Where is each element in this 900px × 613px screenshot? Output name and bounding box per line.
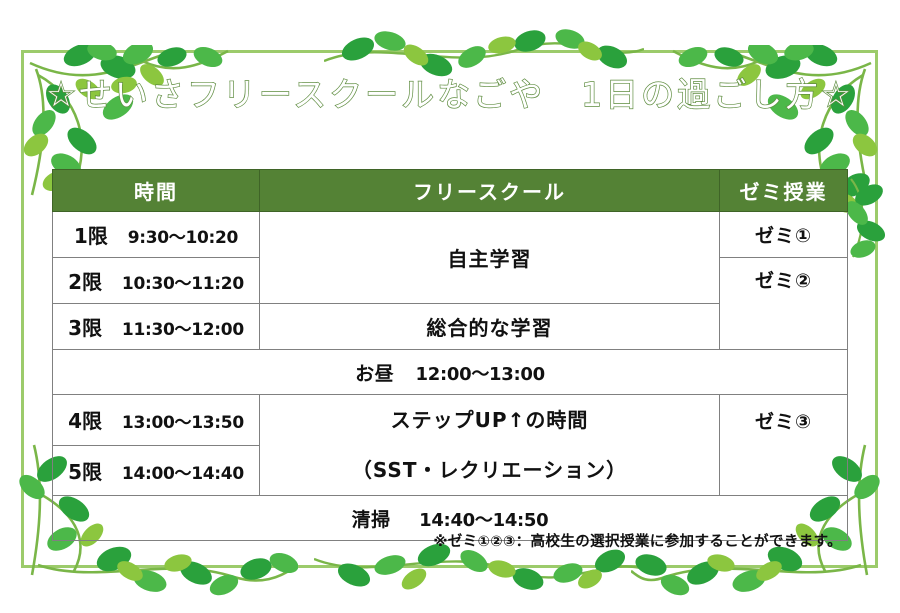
period-cell-1: 1限 9:30〜10:20 xyxy=(53,212,260,258)
activity-cell-general-study: 総合的な学習 xyxy=(260,304,720,350)
period-time-4: 13:00〜13:50 xyxy=(122,413,244,433)
column-header-freeschool: フリースクール xyxy=(260,170,720,212)
table-header-row: 時間 フリースクール ゼミ授業 xyxy=(53,170,848,212)
period-time-5: 14:00〜14:40 xyxy=(122,464,244,484)
period-label-5: 5限 xyxy=(68,460,102,484)
table-row: 4限 13:00〜13:50 ステップUP↑の時間 （SST・レクリエーション）… xyxy=(53,395,848,446)
period-label-1: 1限 xyxy=(74,224,108,248)
activity-cell-self-study: 自主学習 xyxy=(260,212,720,304)
poster-page: ☆せいさフリースクールなごや 1日の過ごし方☆ 時間 フリースクール ゼミ授業 … xyxy=(0,0,900,613)
period-time-2: 10:30〜11:20 xyxy=(122,274,244,294)
activity-line-1: ステップUP↑の時間 xyxy=(260,395,719,445)
period-cell-2: 2限 10:30〜11:20 xyxy=(53,258,260,304)
column-header-time: 時間 xyxy=(53,170,260,212)
lunch-time: 12:00〜13:00 xyxy=(416,364,545,385)
seminar-cell-2: ゼミ② xyxy=(720,258,848,350)
seminar-cell-1: ゼミ① xyxy=(720,212,848,258)
period-cell-4: 4限 13:00〜13:50 xyxy=(53,395,260,446)
period-label-2: 2限 xyxy=(68,270,102,294)
lunch-cell: お昼 12:00〜13:00 xyxy=(53,350,848,395)
period-cell-3: 3限 11:30〜12:00 xyxy=(53,304,260,350)
cleanup-time: 14:40〜14:50 xyxy=(419,510,548,531)
period-label-4: 4限 xyxy=(68,409,102,433)
period-cell-5: 5限 14:00〜14:40 xyxy=(53,445,260,496)
footnote-text: ※ゼミ①②③：高校生の選択授業に参加することができます。 xyxy=(433,530,842,551)
period-time-1: 9:30〜10:20 xyxy=(128,228,238,248)
seminar-cell-3: ゼミ③ xyxy=(720,395,848,496)
period-time-3: 11:30〜12:00 xyxy=(122,320,244,340)
activity-line-2: （SST・レクリエーション） xyxy=(260,445,719,495)
activity-cell-step-up: ステップUP↑の時間 （SST・レクリエーション） xyxy=(260,395,720,496)
lunch-label: お昼 xyxy=(355,363,394,385)
cleanup-label: 清掃 xyxy=(352,509,391,531)
table-row-lunch: お昼 12:00〜13:00 xyxy=(53,350,848,395)
period-label-3: 3限 xyxy=(68,316,102,340)
table-row: 1限 9:30〜10:20 自主学習 ゼミ① xyxy=(53,212,848,258)
column-header-seminar: ゼミ授業 xyxy=(720,170,848,212)
schedule-table: 時間 フリースクール ゼミ授業 1限 9:30〜10:20 自主学習 ゼミ① 2… xyxy=(52,169,848,541)
page-title: ☆せいさフリースクールなごや 1日の過ごし方☆ xyxy=(0,68,900,116)
